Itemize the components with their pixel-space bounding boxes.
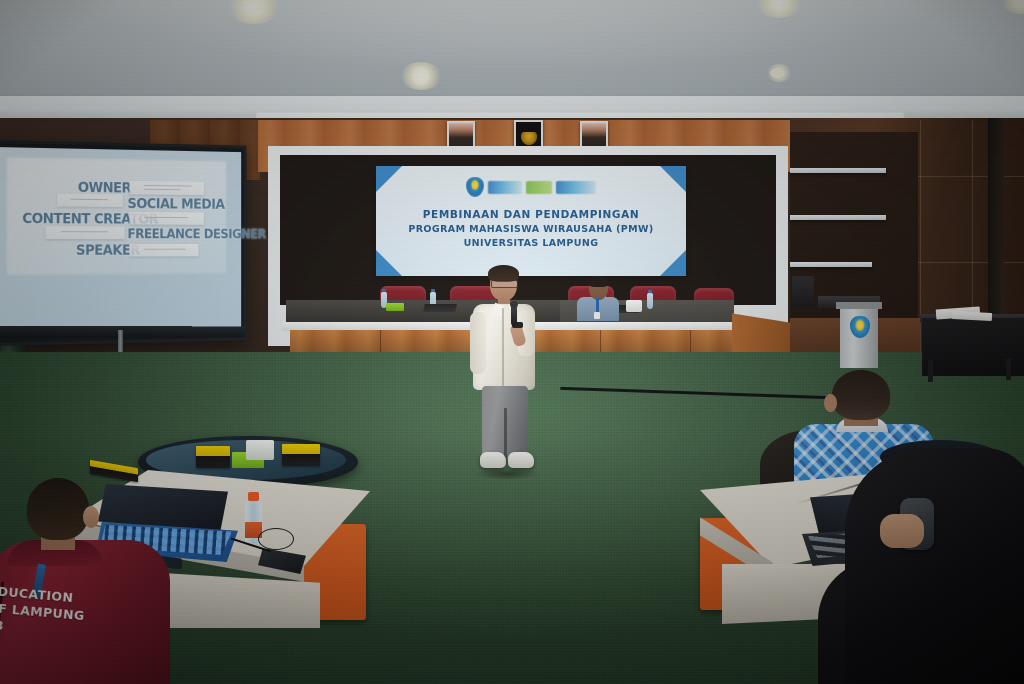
slide-caption-box [129,212,204,225]
garuda-icon [521,132,537,145]
table-nameplate [423,304,457,312]
banner-logo-row [376,176,686,198]
bottle-cap [382,289,386,292]
tissue-box [246,440,274,460]
panelist-hair [588,276,609,287]
green-item [386,303,404,311]
product-box [196,446,230,468]
projection-screen: OWNER SOCIAL MEDIA CONTENT CREATOR FREEL… [0,140,246,346]
partner-logo-icon [526,181,552,194]
banner-corner-bottom-right [660,250,686,276]
speaker-shoe-right [508,452,534,468]
shelf-board [790,262,872,267]
shirt-placket [502,308,504,386]
ceiling-recessed-light [770,68,784,78]
student-head [27,478,89,540]
eyeglasses-icon [491,280,518,288]
hijab-woman-hand [880,514,924,548]
hijab-woman [845,448,1024,684]
batik-man-ear [824,394,837,412]
bottle-cap [648,290,652,293]
downlight-icon [400,62,442,90]
banner-corner-bottom-left [376,250,402,276]
slide-caption-box [129,181,204,195]
earphones-icon [258,528,294,550]
bottle-cap [431,289,435,292]
trouser-gap [504,408,507,458]
speaker-shadow [474,468,540,480]
slide-caption-box [57,194,123,207]
id-badge [594,312,600,319]
bottle-cap [248,492,259,501]
wall-panel-seam [920,120,921,360]
slide-role-freelance-designer: FREELANCE DESIGNER [127,227,265,242]
standing-speaker [468,268,544,480]
slide-caption-box [45,226,124,239]
student-ear [83,506,99,528]
banner-line-2: PROGRAM MAHASISWA WIRAUSAHA (PMW) [376,223,686,237]
slide-role-social-media: SOCIAL MEDIA [127,196,224,212]
tissue-box [626,300,642,312]
batik-man-head [832,370,890,420]
slide-caption-box [129,244,198,257]
foreground-student: EDUCATION OF LAMPUNG 23 [0,478,165,684]
jacket-text-block: EDUCATION OF LAMPUNG 23 [0,583,109,644]
partner-logo-icon [488,181,522,194]
seminar-hall-photo: PEMBINAAN DAN PENDAMPINGAN PROGRAM MAHAS… [0,0,1024,684]
unila-logo-icon [466,177,484,197]
partner-logo-icon [556,181,596,194]
speaker-shoe-left [480,452,506,468]
microphone-head-icon [510,301,518,308]
shelf-board [790,215,886,220]
banner-text-block: PEMBINAAN DAN PENDAMPINGAN PROGRAM MAHAS… [376,208,686,251]
seated-panelist [576,278,620,318]
loudspeaker [792,276,814,308]
banner-line-1: PEMBINAAN DAN PENDAMPINGAN [376,208,686,223]
event-banner: PEMBINAAN DAN PENDAMPINGAN PROGRAM MAHAS… [376,166,686,276]
shelf-board [790,168,886,173]
speaker-arm-left [470,312,486,374]
banner-line-3: UNIVERSITAS LAMPUNG [376,237,686,251]
product-box [282,444,320,466]
side-table-leg [1006,358,1011,380]
water-bottle [647,293,653,309]
podium-top [836,302,882,309]
